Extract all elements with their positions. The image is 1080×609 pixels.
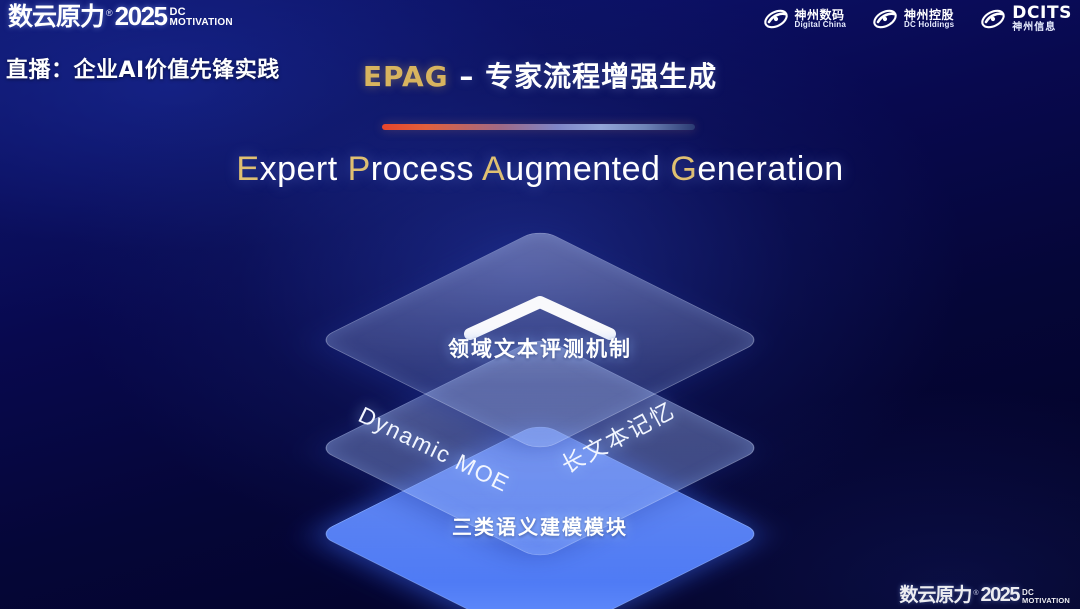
layer-stack-diagram bbox=[280, 228, 800, 573]
partner-name-en: DC Holdings bbox=[904, 21, 954, 29]
brand-dc-motivation: DC MOTIVATION bbox=[170, 7, 233, 28]
swoosh-icon bbox=[763, 8, 789, 30]
partner-name-en: 神州信息 bbox=[1012, 23, 1072, 34]
watermark-registered-mark: ® bbox=[973, 590, 978, 597]
watermark-name-cn: 数云原力 bbox=[899, 586, 971, 605]
registered-mark: ® bbox=[106, 9, 113, 18]
swoosh-icon bbox=[980, 8, 1006, 30]
title-acronym: EPAG bbox=[363, 60, 449, 93]
accent-divider bbox=[382, 124, 695, 130]
title-chinese: 专家流程增强生成 bbox=[485, 60, 717, 93]
subtitle-cap-a: A bbox=[482, 150, 505, 188]
partner-logo-dc-holdings: 神州控股 DC Holdings bbox=[872, 8, 954, 30]
partner-name-cn: DCITS bbox=[1012, 5, 1072, 23]
watermark-dc-motivation: DC MOTIVATION bbox=[1022, 589, 1070, 605]
slide-stage: 数云原力 ® 2025 DC MOTIVATION 直播：企业AI价值先锋实践 … bbox=[0, 0, 1080, 609]
watermark-year: 2025 bbox=[981, 585, 1020, 605]
swoosh-icon bbox=[872, 8, 898, 30]
watermark-motivation-text: MOTIVATION bbox=[1022, 597, 1070, 605]
subtitle-rest-process: rocess bbox=[371, 150, 482, 188]
subtitle-cap-p: P bbox=[348, 150, 371, 188]
subtitle-expansion: Expert Process Augmented Generation bbox=[0, 150, 1080, 189]
subtitle-rest-expert: xpert bbox=[260, 150, 348, 188]
partner-logo-digital-china: 神州数码 Digital China bbox=[763, 8, 847, 30]
subtitle-cap-e: E bbox=[236, 150, 259, 188]
partner-name-en: Digital China bbox=[795, 21, 847, 29]
partner-text: 神州数码 Digital China bbox=[795, 9, 847, 30]
brand-name-cn: 数云原力 bbox=[8, 4, 104, 29]
page-title: EPAG – 专家流程增强生成 bbox=[0, 55, 1080, 95]
footer-watermark: 数云原力 ® 2025 DC MOTIVATION bbox=[899, 585, 1070, 605]
subtitle-rest-augmented: ugmented bbox=[505, 150, 670, 188]
brand-year: 2025 bbox=[115, 3, 167, 29]
brand-logo: 数云原力 ® 2025 DC MOTIVATION bbox=[8, 3, 233, 29]
partner-text: 神州控股 DC Holdings bbox=[904, 9, 954, 30]
partner-logo-group: 神州数码 Digital China 神州控股 DC Holdings bbox=[763, 5, 1072, 33]
brand-motivation-text: MOTIVATION bbox=[170, 18, 233, 28]
title-separator: – bbox=[449, 60, 486, 93]
subtitle-cap-g: G bbox=[670, 150, 697, 188]
partner-logo-dcits: DCITS 神州信息 bbox=[980, 5, 1072, 33]
partner-text: DCITS 神州信息 bbox=[1012, 5, 1072, 33]
subtitle-rest-generation: eneration bbox=[697, 150, 843, 188]
